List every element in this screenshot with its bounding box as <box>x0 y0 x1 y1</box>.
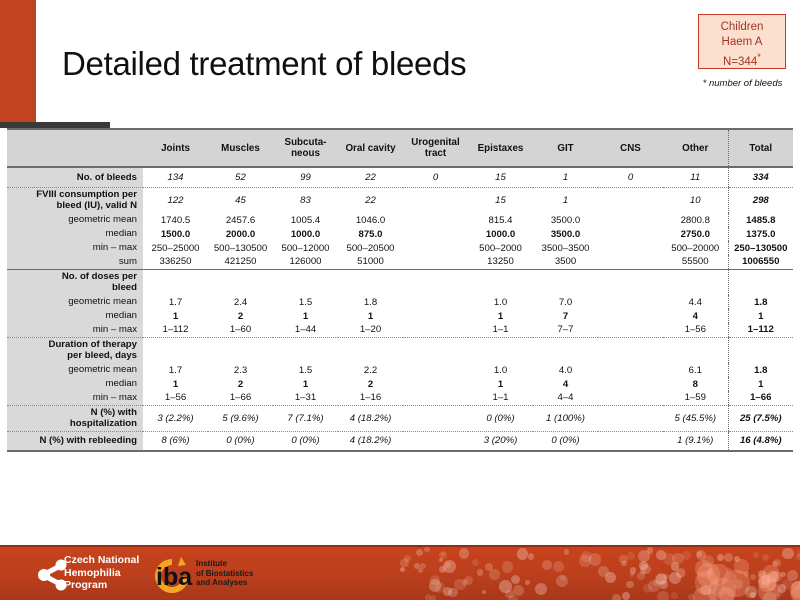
cell-oral-cavity <box>338 337 403 363</box>
cell-total: 25 (7.5%) <box>728 405 793 431</box>
cell-epistaxes: 15 <box>468 167 533 187</box>
cell-joints: 1500.0 <box>143 227 208 241</box>
cell-urogenital <box>403 363 468 377</box>
cell-total: 1–112 <box>728 323 793 337</box>
slide-footer: Czech National Hemophilia Program iba In… <box>0 545 800 600</box>
cell-other: 4 <box>663 309 728 323</box>
cell-urogenital <box>403 431 468 451</box>
cell-total: 1.8 <box>728 295 793 309</box>
cell-epistaxes: 13250 <box>468 255 533 269</box>
cell-subcutaneous: 1–31 <box>273 391 338 405</box>
cell-oral-cavity: 22 <box>338 167 403 187</box>
blood-cell-dot <box>535 583 547 595</box>
blood-cell-dot <box>671 592 678 599</box>
cell-joints: 1–112 <box>143 323 208 337</box>
blood-cell-dot <box>656 550 665 559</box>
table-row: min – max250–25000500–130500500–12000500… <box>7 241 793 255</box>
blood-cell-dot <box>724 553 733 562</box>
blood-cell-dot <box>505 590 514 599</box>
chnp-line-1: Czech National <box>64 554 139 567</box>
cell-other: 5 (45.5%) <box>663 405 728 431</box>
cell-other: 55500 <box>663 255 728 269</box>
cell-other <box>663 337 728 363</box>
iba-line-3: and Analyses <box>196 578 253 588</box>
row-label-line1: N (%) with <box>91 407 137 418</box>
cell-joints: 1–56 <box>143 391 208 405</box>
cell-subcutaneous: 7 (7.1%) <box>273 405 338 431</box>
cell-other: 1 (9.1%) <box>663 431 728 451</box>
col-header-muscles: Muscles <box>208 129 273 167</box>
table-row: N (%) with rebleeding8 (6%)0 (0%)0 (0%)4… <box>7 431 793 451</box>
cell-git: 1 <box>533 167 598 187</box>
blood-cell-dot <box>638 550 650 562</box>
cell-git: 7 <box>533 309 598 323</box>
cell-oral-cavity: 1046.0 <box>338 213 403 227</box>
cell-joints: 1.7 <box>143 363 208 377</box>
cell-git: 3500.0 <box>533 227 598 241</box>
cell-other: 4.4 <box>663 295 728 309</box>
blood-cell-dot <box>717 554 724 561</box>
cell-epistaxes: 0 (0%) <box>468 405 533 431</box>
cell-joints <box>143 269 208 295</box>
cell-urogenital <box>403 309 468 323</box>
table-row: Duration of therapyper bleed, days <box>7 337 793 363</box>
row-label: No. of doses perbleed <box>7 269 143 295</box>
cell-muscles: 2000.0 <box>208 227 273 241</box>
cell-total: 334 <box>728 167 793 187</box>
table-row: N (%) withhospitalization3 (2.2%)5 (9.6%… <box>7 405 793 431</box>
row-label: Duration of therapyper bleed, days <box>7 337 143 363</box>
cell-joints: 250–25000 <box>143 241 208 255</box>
cell-cns <box>598 309 663 323</box>
blood-cell-dot <box>787 570 798 581</box>
blood-cell-dot <box>517 548 529 560</box>
cell-urogenital <box>403 269 468 295</box>
blood-cell-dot <box>762 554 769 561</box>
table-head: Joints Muscles Subcuta- neous Oral cavit… <box>7 129 793 167</box>
cell-urogenital <box>403 405 468 431</box>
cell-muscles <box>208 337 273 363</box>
row-label-line2: per bleed, days <box>67 350 137 361</box>
cell-muscles: 2 <box>208 377 273 391</box>
blood-cell-dot <box>657 591 669 600</box>
cell-muscles: 0 (0%) <box>208 431 273 451</box>
cell-epistaxes: 1–1 <box>468 323 533 337</box>
cell-joints: 8 (6%) <box>143 431 208 451</box>
table-row: geometric mean1.72.41.51.81.07.04.41.8 <box>7 295 793 309</box>
table-row: geometric mean1.72.31.52.21.04.06.11.8 <box>7 363 793 377</box>
cell-cns <box>598 227 663 241</box>
cell-git: 3500–3500 <box>533 241 598 255</box>
cell-epistaxes: 500–2000 <box>468 241 533 255</box>
czech-hemophilia-logo-text: Czech National Hemophilia Program <box>64 554 139 592</box>
table-row: geometric mean1740.52457.61005.41046.081… <box>7 213 793 227</box>
blood-cell-dot <box>502 561 514 573</box>
blood-cell-dot <box>564 549 570 555</box>
cell-muscles: 2.4 <box>208 295 273 309</box>
cell-subcutaneous: 1 <box>273 309 338 323</box>
cell-git: 1 <box>533 187 598 213</box>
blood-cell-dot <box>528 553 535 560</box>
col-header-total: Total <box>728 129 793 167</box>
cell-cns: 0 <box>598 167 663 187</box>
treatment-table: Joints Muscles Subcuta- neous Oral cavit… <box>7 128 793 452</box>
cell-other: 6.1 <box>663 363 728 377</box>
cell-cns <box>598 255 663 269</box>
cell-oral-cavity: 875.0 <box>338 227 403 241</box>
cell-total: 1.8 <box>728 363 793 377</box>
table-row: FVIII consumption perbleed (IU), valid N… <box>7 187 793 213</box>
cell-epistaxes <box>468 269 533 295</box>
cell-urogenital <box>403 295 468 309</box>
cell-cns <box>598 213 663 227</box>
cell-git: 3500.0 <box>533 213 598 227</box>
row-label-line1: No. of doses per <box>62 271 137 282</box>
col-header-epistaxes: Epistaxes <box>468 129 533 167</box>
col-header-git: GIT <box>533 129 598 167</box>
blood-cell-dot <box>542 560 552 570</box>
blood-cell-dot <box>671 562 680 571</box>
cell-cns <box>598 405 663 431</box>
cell-total: 298 <box>728 187 793 213</box>
cell-total: 250–130500 <box>728 241 793 255</box>
cell-other: 2800.8 <box>663 213 728 227</box>
row-label: median <box>7 309 143 323</box>
cell-joints: 134 <box>143 167 208 187</box>
cell-oral-cavity: 1–16 <box>338 391 403 405</box>
cohort-footnote: * number of bleeds <box>690 78 795 89</box>
cell-epistaxes: 1 <box>468 309 533 323</box>
iba-line-2: of Biostatistics <box>196 569 253 579</box>
iba-logo-text: Institute of Biostatistics and Analyses <box>196 559 253 588</box>
blood-cell-dot <box>553 561 564 572</box>
cell-other: 2750.0 <box>663 227 728 241</box>
blood-cell-dot <box>482 590 487 595</box>
cell-cns <box>598 187 663 213</box>
svg-text:iba: iba <box>156 563 193 591</box>
cell-subcutaneous: 500–12000 <box>273 241 338 255</box>
cell-subcutaneous: 1.5 <box>273 363 338 377</box>
cell-muscles: 52 <box>208 167 273 187</box>
row-label: FVIII consumption perbleed (IU), valid N <box>7 187 143 213</box>
blood-cell-dot <box>612 594 621 600</box>
cell-cns <box>598 323 663 337</box>
row-label-line2: hospitalization <box>70 418 137 429</box>
cell-git: 4 <box>533 377 598 391</box>
cell-urogenital <box>403 241 468 255</box>
cell-cns <box>598 363 663 377</box>
blood-cell-dot <box>416 549 423 556</box>
cell-cns <box>598 337 663 363</box>
cell-cns <box>598 431 663 451</box>
blood-cell-dot <box>782 548 794 560</box>
cell-subcutaneous: 1000.0 <box>273 227 338 241</box>
cell-muscles <box>208 269 273 295</box>
row-label: geometric mean <box>7 213 143 227</box>
blood-cell-dot <box>420 563 426 569</box>
blood-cell-dot <box>459 548 469 558</box>
page-title: Detailed treatment of bleeds <box>62 45 466 83</box>
blood-cell-dot <box>753 552 759 558</box>
cell-muscles: 421250 <box>208 255 273 269</box>
cell-joints: 3 (2.2%) <box>143 405 208 431</box>
col-header-subcutaneous-line2: neous <box>291 148 320 159</box>
cell-urogenital <box>403 323 468 337</box>
cell-joints <box>143 337 208 363</box>
row-label: geometric mean <box>7 363 143 377</box>
col-header-urogenital-line1: Urogenital <box>411 137 459 148</box>
row-label-line2: bleed <box>112 282 137 293</box>
row-label-line1: Duration of therapy <box>49 339 137 350</box>
blood-cell-dot <box>462 579 469 586</box>
cell-other: 11 <box>663 167 728 187</box>
blood-cell-dot <box>511 575 520 584</box>
col-header-subcutaneous: Subcuta- neous <box>273 129 338 167</box>
blood-cell-clump <box>758 572 770 584</box>
col-header-other: Other <box>663 129 728 167</box>
cell-muscles: 1–66 <box>208 391 273 405</box>
cell-git: 7.0 <box>533 295 598 309</box>
cell-git: 7–7 <box>533 323 598 337</box>
cell-muscles: 500–130500 <box>208 241 273 255</box>
blood-cell-dot <box>477 569 484 576</box>
col-header-cns: CNS <box>598 129 663 167</box>
cell-joints: 336250 <box>143 255 208 269</box>
cell-epistaxes: 815.4 <box>468 213 533 227</box>
cell-total: 1375.0 <box>728 227 793 241</box>
cell-oral-cavity: 500–20500 <box>338 241 403 255</box>
blood-cell-dot <box>750 574 756 580</box>
cell-cns <box>598 377 663 391</box>
cell-epistaxes: 1.0 <box>468 363 533 377</box>
table-row: No. of doses perbleed <box>7 269 793 295</box>
cell-muscles: 45 <box>208 187 273 213</box>
row-label: sum <box>7 255 143 269</box>
row-label: min – max <box>7 241 143 255</box>
footnote-star: * <box>757 52 761 63</box>
cell-total <box>728 337 793 363</box>
cell-urogenital <box>403 187 468 213</box>
blood-cell-clump <box>790 581 800 600</box>
cell-urogenital <box>403 213 468 227</box>
blood-cell-dot <box>472 559 479 566</box>
blood-cell-dot <box>626 581 633 588</box>
blood-cell-dot <box>605 572 616 583</box>
blood-cell-dot <box>425 594 432 600</box>
cell-total: 1 <box>728 377 793 391</box>
blood-cell-dot <box>443 587 452 596</box>
row-label: min – max <box>7 391 143 405</box>
cell-oral-cavity: 2 <box>338 377 403 391</box>
cell-git: 4–4 <box>533 391 598 405</box>
cell-joints: 1 <box>143 377 208 391</box>
cell-epistaxes: 15 <box>468 187 533 213</box>
cell-other: 8 <box>663 377 728 391</box>
cell-joints: 1 <box>143 309 208 323</box>
cell-subcutaneous <box>273 269 338 295</box>
cell-epistaxes <box>468 337 533 363</box>
cell-oral-cavity: 1.8 <box>338 295 403 309</box>
blood-cell-dot <box>622 592 630 600</box>
table-row: median1500.02000.01000.0875.01000.03500.… <box>7 227 793 241</box>
cell-git: 4.0 <box>533 363 598 377</box>
row-label: min – max <box>7 323 143 337</box>
cell-muscles: 2.3 <box>208 363 273 377</box>
table-body: No. of bleeds1345299220151011334FVIII co… <box>7 167 793 451</box>
table-row: min – max1–561–661–311–161–14–41–591–66 <box>7 391 793 405</box>
cell-urogenital <box>403 337 468 363</box>
row-label: geometric mean <box>7 295 143 309</box>
cell-total: 1006550 <box>728 255 793 269</box>
cell-oral-cavity: 4 (18.2%) <box>338 405 403 431</box>
blood-cell-dot <box>525 580 530 585</box>
blood-cell-dot <box>663 574 668 579</box>
col-header-blank <box>7 129 143 167</box>
cell-muscles: 2457.6 <box>208 213 273 227</box>
table-row: sum3362504212501260005100013250350055500… <box>7 255 793 269</box>
blood-cell-dot <box>640 569 646 575</box>
cell-epistaxes: 1000.0 <box>468 227 533 241</box>
row-label: median <box>7 377 143 391</box>
blood-cell-dot <box>697 551 702 556</box>
cell-total: 1 <box>728 309 793 323</box>
cell-other: 1–59 <box>663 391 728 405</box>
cell-epistaxes: 3 (20%) <box>468 431 533 451</box>
blood-cell-dot <box>589 553 601 565</box>
row-label-line2: bleed (IU), valid N <box>57 200 138 211</box>
cohort-n: N=344 <box>723 56 757 68</box>
left-accent-bar <box>0 0 33 128</box>
cell-subcutaneous: 83 <box>273 187 338 213</box>
cell-muscles: 1–60 <box>208 323 273 337</box>
chnp-line-2: Hemophilia <box>64 567 139 580</box>
cell-oral-cavity: 51000 <box>338 255 403 269</box>
blood-cell-dot <box>485 563 493 571</box>
cell-joints: 1.7 <box>143 295 208 309</box>
cell-oral-cavity: 1–20 <box>338 323 403 337</box>
cohort-info-box: Children Haem A N=344* <box>698 14 786 69</box>
cell-subcutaneous: 1005.4 <box>273 213 338 227</box>
cell-joints: 122 <box>143 187 208 213</box>
left-accent-bar-edge <box>33 0 36 128</box>
blood-cell-dot <box>556 575 568 587</box>
chnp-line-3: Program <box>64 579 139 592</box>
cell-git <box>533 269 598 295</box>
cell-urogenital <box>403 391 468 405</box>
treatment-table-container: Joints Muscles Subcuta- neous Oral cavit… <box>7 128 793 452</box>
cell-urogenital <box>403 227 468 241</box>
cell-epistaxes: 1–1 <box>468 391 533 405</box>
table-row: No. of bleeds1345299220151011334 <box>7 167 793 187</box>
table-header-row: Joints Muscles Subcuta- neous Oral cavit… <box>7 129 793 167</box>
cell-subcutaneous: 1 <box>273 377 338 391</box>
cell-subcutaneous: 1.5 <box>273 295 338 309</box>
blood-cell-dot <box>796 554 800 560</box>
blood-cell-dot <box>400 559 409 568</box>
cell-subcutaneous: 99 <box>273 167 338 187</box>
cell-oral-cavity: 22 <box>338 187 403 213</box>
blood-cell-dot <box>627 552 635 560</box>
row-label: median <box>7 227 143 241</box>
blood-cell-dot <box>750 592 756 598</box>
cell-urogenital: 0 <box>403 167 468 187</box>
cell-urogenital <box>403 255 468 269</box>
cell-total: 1–66 <box>728 391 793 405</box>
cell-cns <box>598 295 663 309</box>
cell-total <box>728 269 793 295</box>
col-header-urogenital-line2: tract <box>425 148 446 159</box>
blood-cell-dot <box>630 572 635 577</box>
table-row: min – max1–1121–601–441–201–17–71–561–11… <box>7 323 793 337</box>
row-label-line1: FVIII consumption per <box>36 189 137 200</box>
cell-cns <box>598 391 663 405</box>
cell-cns <box>598 269 663 295</box>
cell-git: 1 (100%) <box>533 405 598 431</box>
footer-top-edge <box>0 545 800 547</box>
cell-muscles: 5 (9.6%) <box>208 405 273 431</box>
cohort-line-2: Haem A <box>699 35 785 50</box>
cell-cns <box>598 241 663 255</box>
col-header-subcutaneous-line1: Subcuta- <box>285 137 327 148</box>
row-label: N (%) with rebleeding <box>7 431 143 451</box>
blood-cell-dot <box>400 567 405 572</box>
cohort-line-1: Children <box>699 20 785 35</box>
cell-epistaxes: 1.0 <box>468 295 533 309</box>
blood-cell-dot <box>682 551 691 560</box>
cell-total: 16 (4.8%) <box>728 431 793 451</box>
cell-oral-cavity: 4 (18.2%) <box>338 431 403 451</box>
cell-oral-cavity: 1 <box>338 309 403 323</box>
cell-joints: 1740.5 <box>143 213 208 227</box>
col-header-joints: Joints <box>143 129 208 167</box>
cell-subcutaneous <box>273 337 338 363</box>
col-header-urogenital: Urogenital tract <box>403 129 468 167</box>
cohort-line-3: N=344* <box>699 50 785 70</box>
blood-cell-clump <box>722 570 750 598</box>
cell-epistaxes: 1 <box>468 377 533 391</box>
cell-urogenital <box>403 377 468 391</box>
cell-git: 3500 <box>533 255 598 269</box>
col-header-oral-cavity: Oral cavity <box>338 129 403 167</box>
blood-cell-dot <box>443 560 456 573</box>
cell-other: 500–20000 <box>663 241 728 255</box>
cell-total: 1485.8 <box>728 213 793 227</box>
cell-git <box>533 337 598 363</box>
cell-other: 10 <box>663 187 728 213</box>
cell-subcutaneous: 126000 <box>273 255 338 269</box>
table-row: median12121481 <box>7 377 793 391</box>
table-row: median12111741 <box>7 309 793 323</box>
cell-subcutaneous: 0 (0%) <box>273 431 338 451</box>
blood-cell-clump <box>770 571 781 582</box>
iba-line-1: Institute <box>196 559 253 569</box>
cell-other <box>663 269 728 295</box>
cell-git: 0 (0%) <box>533 431 598 451</box>
row-label: N (%) withhospitalization <box>7 405 143 431</box>
cell-oral-cavity: 2.2 <box>338 363 403 377</box>
cell-subcutaneous: 1–44 <box>273 323 338 337</box>
cell-oral-cavity <box>338 269 403 295</box>
cell-muscles: 2 <box>208 309 273 323</box>
row-label: No. of bleeds <box>7 167 143 187</box>
cell-other: 1–56 <box>663 323 728 337</box>
blood-cell-dot <box>424 547 429 552</box>
